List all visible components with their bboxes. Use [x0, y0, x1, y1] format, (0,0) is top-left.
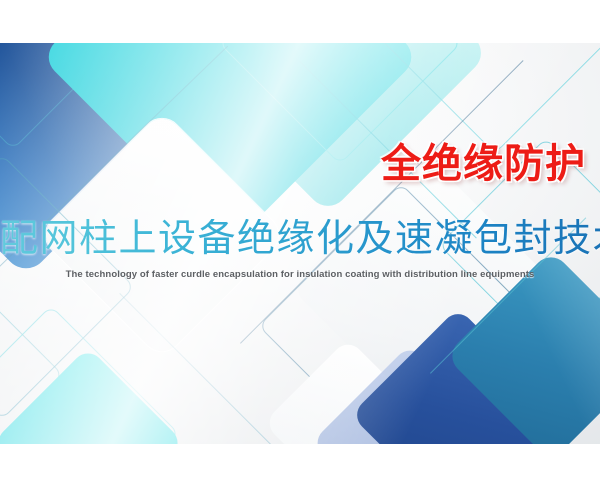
- english-subtitle: The technology of faster curdle encapsul…: [0, 269, 600, 280]
- red-headline: 全绝缘防护: [381, 144, 586, 184]
- poster-frame: 全绝缘防护 配网柱上设备绝缘化及速凝包封技术 The technology of…: [0, 0, 600, 487]
- banner-artwork: 全绝缘防护 配网柱上设备绝缘化及速凝包封技术 The technology of…: [0, 43, 600, 444]
- main-title: 配网柱上设备绝缘化及速凝包封技术: [0, 219, 600, 260]
